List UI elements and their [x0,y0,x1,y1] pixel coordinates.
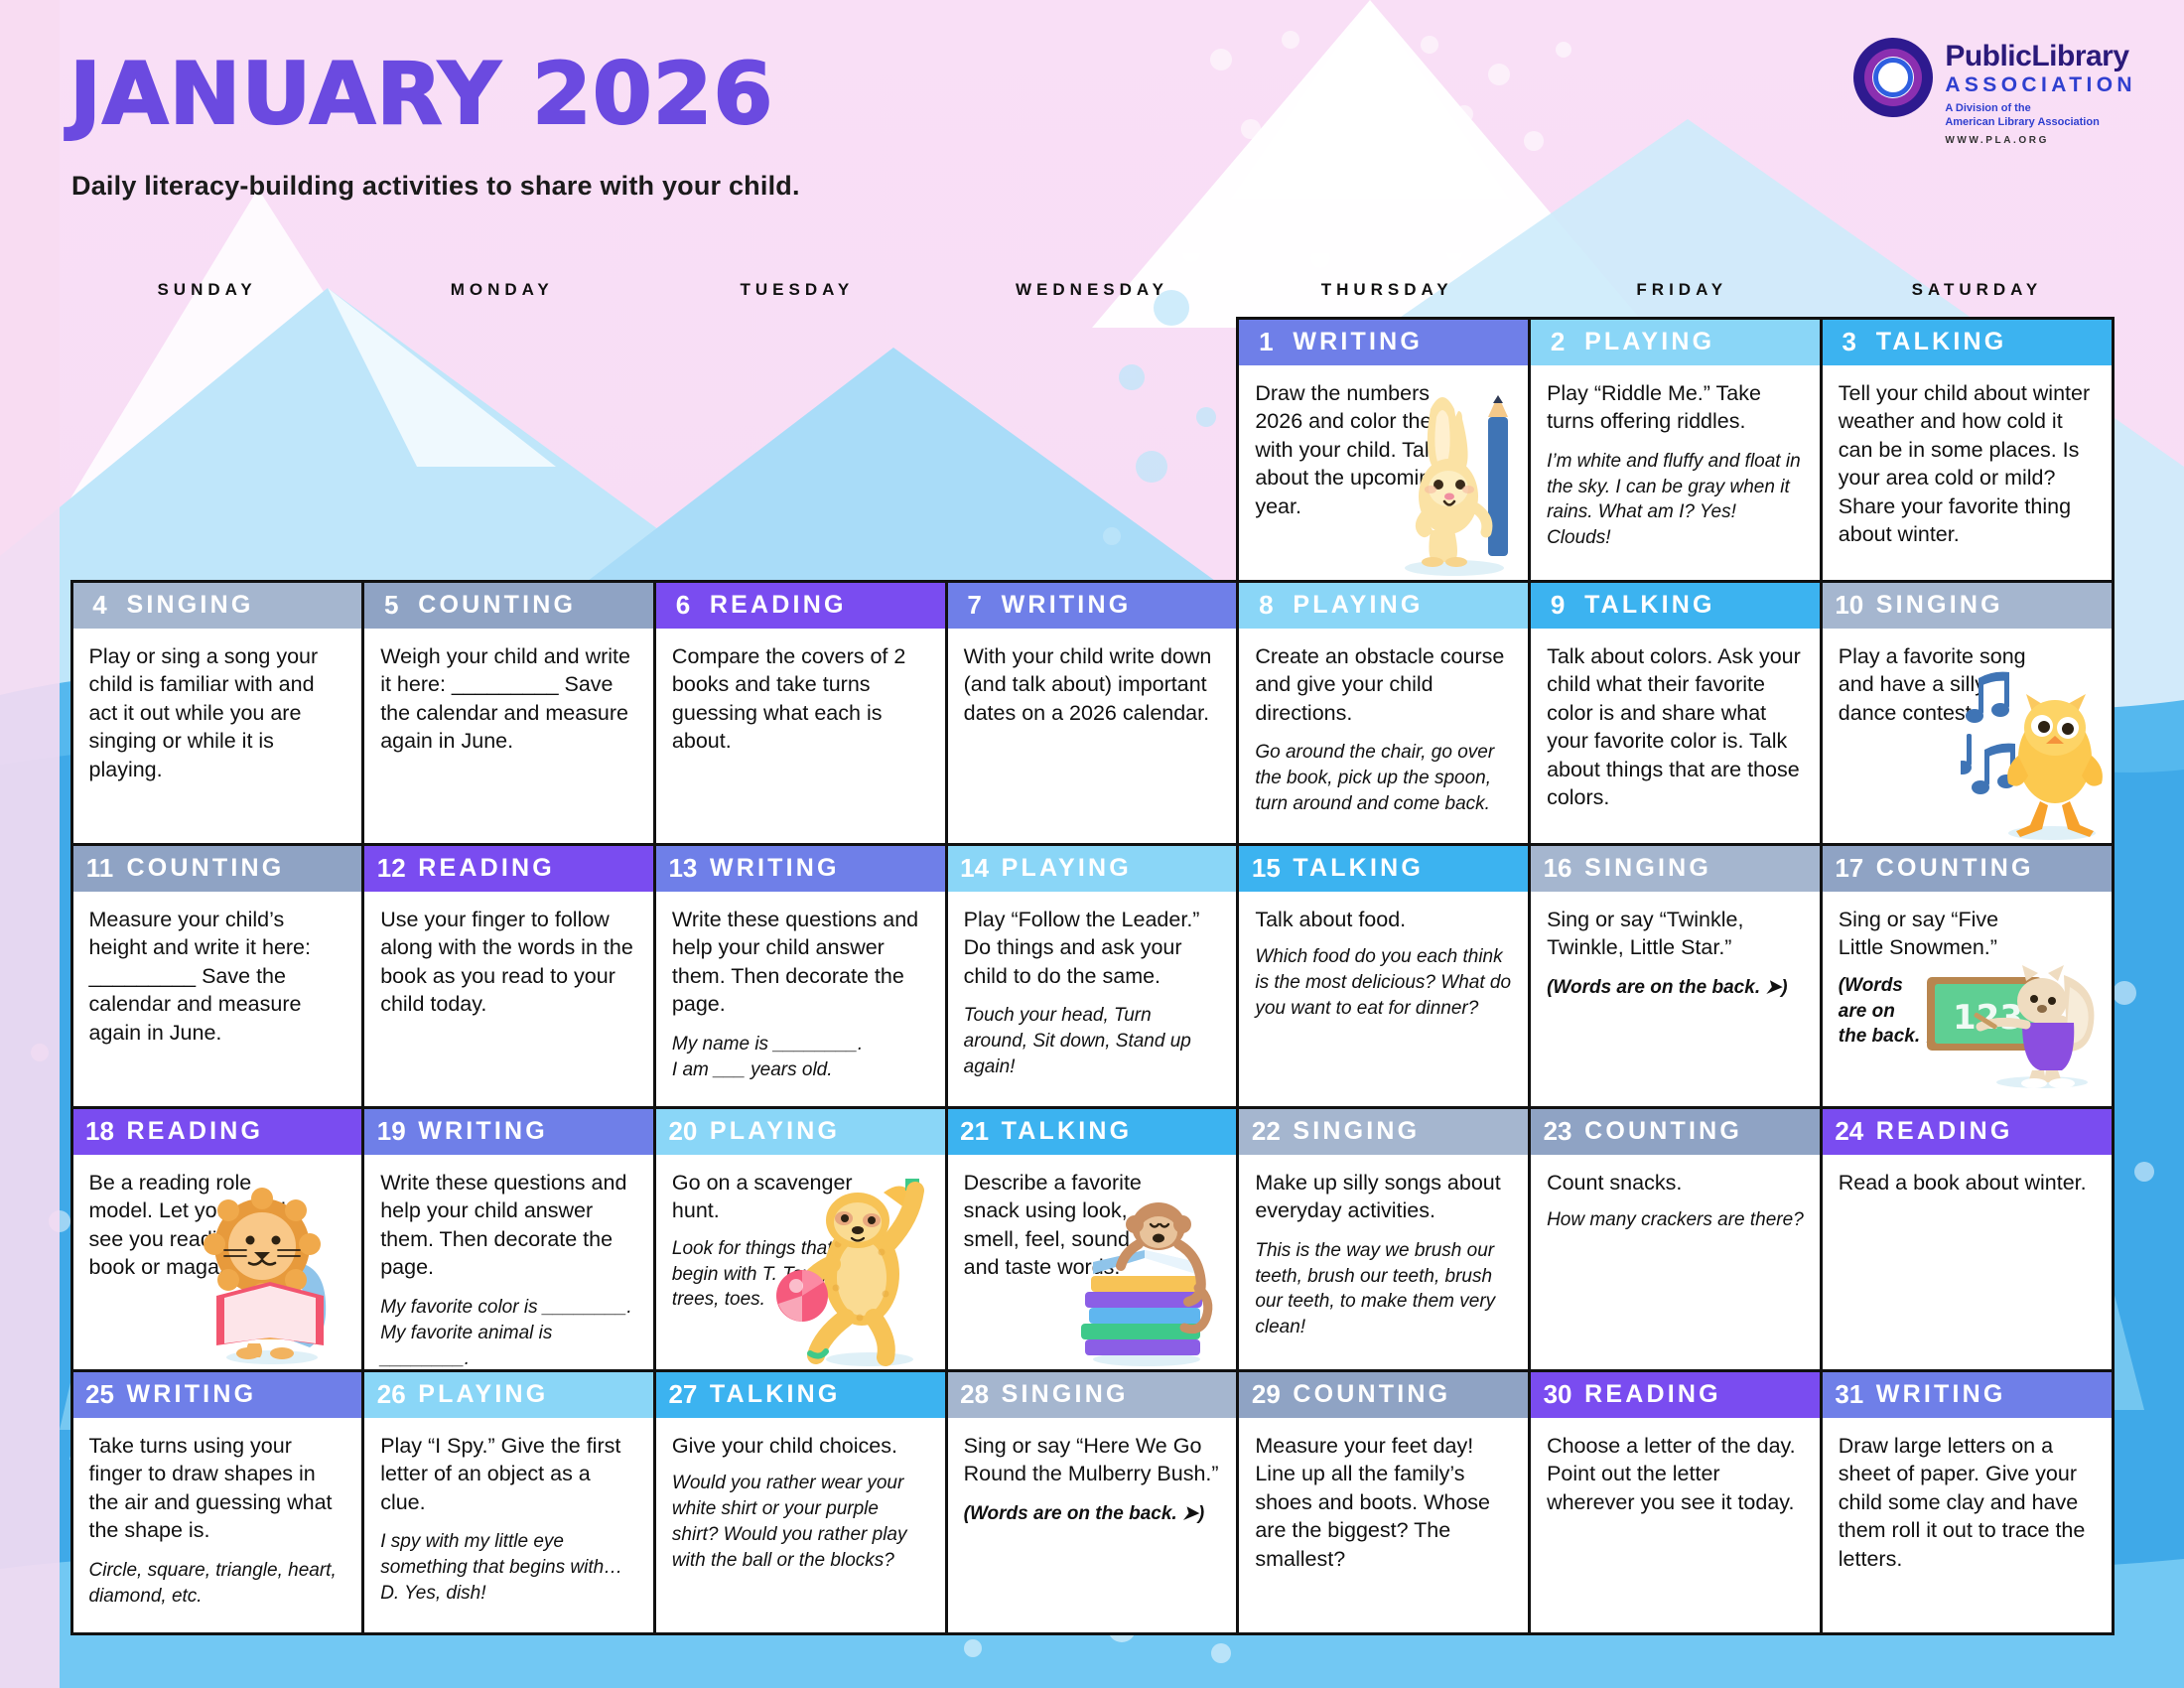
calendar-day-cell[interactable]: 17COUNTING 123 Sing or say “Five Little … [1820,843,2115,1109]
day-activity-text: Talk about food. [1255,906,1512,934]
day-example-text: I spy with my little eye something that … [380,1529,637,1606]
page-subtitle: Daily literacy-building activities to sh… [71,171,800,202]
calendar-cell-empty [653,317,948,583]
day-number: 18 [73,1116,127,1147]
day-activity-text: Sing or say “Twinkle, Twinkle, Little St… [1547,906,1804,962]
day-activity-text: Draw large letters on a sheet of paper. … [1839,1432,2096,1574]
day-example-text: I’m white and fluffy and float in the sk… [1547,449,1804,551]
day-category-label: SINGING [1002,1380,1129,1409]
day-body: Use your finger to follow along with the… [364,892,653,1106]
pla-logo: PublicLibrary ASSOCIATION A Division of … [1853,38,2136,146]
weekday-friday: FRIDAY [1535,280,1830,310]
day-body: Play “I Spy.” Give the first letter of a… [364,1418,653,1632]
day-example-text: Look for things that begin with T. Toys,… [672,1236,876,1313]
day-header: 6READING [656,583,945,629]
day-category-label: SINGING [127,591,254,620]
day-activity-text: Tell your child about winter weather and… [1839,379,2096,550]
calendar-day-cell[interactable]: 16SINGINGSing or say “Twinkle, Twinkle, … [1528,843,1823,1109]
day-activity-text: Write these questions and help your chil… [380,1169,637,1282]
day-category-label: TALKING [1002,1117,1133,1146]
day-header: 9TALKING [1531,583,1820,629]
pla-logo-icon [1853,38,1933,117]
day-example-text: Circle, square, triangle, heart, diamond… [89,1558,346,1610]
day-body: Compare the covers of 2 books and take t… [656,629,945,843]
day-number: 6 [656,590,710,621]
day-header: 14PLAYING [948,846,1237,892]
day-header: 26PLAYING [364,1372,653,1418]
calendar-day-cell[interactable]: 22SINGINGMake up silly songs about every… [1236,1106,1531,1372]
day-body: Count snacks.How many crackers are there… [1531,1155,1820,1369]
day-number: 31 [1823,1379,1876,1410]
calendar-grid: 1WRITING Draw the numbers 2026 and color… [71,318,2113,1633]
page-header: JANUARY 2026 Daily literacy-building act… [0,0,2184,268]
day-number: 21 [948,1116,1002,1147]
day-header: 31WRITING [1823,1372,2112,1418]
day-body: Draw large letters on a sheet of paper. … [1823,1418,2112,1632]
day-body: Play “Follow the Leader.” Do things and … [948,892,1237,1106]
day-activity-text: Compare the covers of 2 books and take t… [672,642,929,756]
day-category-label: WRITING [127,1380,257,1409]
logo-url: WWW.PLA.ORG [1945,135,2136,146]
calendar-day-cell[interactable]: 24READINGRead a book about winter. [1820,1106,2115,1372]
calendar-cell-empty [361,317,656,583]
day-example-text: (Words are on the back. ➤) [1547,975,1804,1001]
calendar-day-cell[interactable]: 4SINGINGPlay or sing a song your child i… [70,580,365,846]
day-body: Talk about food.Which food do you each t… [1239,892,1528,1106]
day-category-label: TALKING [710,1380,841,1409]
day-header: 16SINGING [1531,846,1820,892]
calendar-day-cell[interactable]: 6READINGCompare the covers of 2 books an… [653,580,948,846]
day-number: 28 [948,1379,1002,1410]
day-example-text: (Words are on the back. ➤) [964,1501,1221,1527]
day-category-label: COUNTING [1876,854,2034,883]
day-number: 16 [1531,853,1584,884]
day-header: 18READING [73,1109,362,1155]
calendar-day-cell[interactable]: 1WRITING Draw the numbers 2026 and color… [1236,317,1531,583]
day-category-label: PLAYING [710,1117,840,1146]
day-activity-text: Count snacks. [1547,1169,1804,1197]
day-body: Create an obstacle course and give your … [1239,629,1528,843]
day-category-label: TALKING [1876,328,2007,356]
day-activity-text: Play “I Spy.” Give the first letter of a… [380,1432,637,1517]
day-body: Play or sing a song your child is famili… [73,629,362,843]
day-activity-text: Play a favorite song and have a silly da… [1839,642,2042,728]
day-header: 5COUNTING [364,583,653,629]
day-activity-text: Write these questions and help your chil… [672,906,929,1019]
day-category-label: COUNTING [1584,1117,1742,1146]
calendar-day-cell[interactable]: 9TALKINGTalk about colors. Ask your chil… [1528,580,1823,846]
day-body: Write these questions and help your chil… [364,1155,653,1372]
day-example-text: Touch your head, Turn around, Sit down, … [964,1003,1221,1079]
day-header: 28SINGING [948,1372,1237,1418]
day-activity-text: Play or sing a song your child is famili… [89,642,346,784]
calendar-cell-empty [70,317,365,583]
calendar-day-cell[interactable]: 26PLAYINGPlay “I Spy.” Give the first le… [361,1369,656,1635]
calendar-day-cell[interactable]: 5COUNTINGWeigh your child and write it h… [361,580,656,846]
day-number: 3 [1823,327,1876,357]
day-body: Weigh your child and write it here: ____… [364,629,653,843]
day-example-text: Would you rather wear your white shirt o… [672,1471,929,1573]
day-activity-text: Give your child choices. [672,1432,929,1461]
day-activity-text: Create an obstacle course and give your … [1255,642,1512,728]
day-body: Choose a letter of the day. Point out th… [1531,1418,1820,1632]
calendar-day-cell[interactable]: 27TALKINGGive your child choices.Would y… [653,1369,948,1635]
day-example-text: This is the way we brush our teeth, brus… [1255,1238,1512,1340]
day-example-text: Which food do you each think is the most… [1255,944,1512,1021]
calendar-day-cell[interactable]: 28SINGINGSing or say “Here We Go Round t… [945,1369,1240,1635]
day-body: Be a reading role model. Let your child … [73,1155,362,1369]
day-activity-text: With your child write down (and talk abo… [964,642,1221,728]
day-header: 24READING [1823,1109,2112,1155]
day-example-text: (Words are on the back. ➤) [1839,973,2042,1050]
day-number: 29 [1239,1379,1293,1410]
day-number: 25 [73,1379,127,1410]
day-body: Go on a scavenger hunt.Look for things t… [656,1155,945,1369]
day-header: 21TALKING [948,1109,1237,1155]
day-activity-text: Make up silly songs about everyday activ… [1255,1169,1512,1225]
calendar-day-cell[interactable]: 10SINGING Play a favorite song and have … [1820,580,2115,846]
calendar-day-cell[interactable]: 11COUNTINGMeasure your child’s height an… [70,843,365,1109]
logo-name-bold: Public [1945,40,2031,72]
weekday-thursday: THURSDAY [1240,280,1535,310]
day-header: 19WRITING [364,1109,653,1155]
day-header: 3TALKING [1823,320,2112,365]
calendar-day-cell[interactable]: 2PLAYINGPlay “Riddle Me.” Take turns off… [1528,317,1823,583]
day-example-text: My name is ________. I am ___ years old. [672,1032,929,1083]
calendar-day-cell[interactable]: 15TALKINGTalk about food.Which food do y… [1236,843,1531,1109]
day-header: 10SINGING [1823,583,2112,629]
day-body: With your child write down (and talk abo… [948,629,1237,843]
day-header: 25WRITING [73,1372,362,1418]
day-number: 14 [948,853,1002,884]
day-number: 23 [1531,1116,1584,1147]
day-example-text: My favorite color is ________. My favori… [380,1295,637,1371]
day-body: Describe a favorite snack using look, sm… [948,1155,1237,1369]
day-body: Talk about colors. Ask your child what t… [1531,629,1820,843]
day-category-label: TALKING [1293,854,1424,883]
day-body: Sing or say “Here We Go Round the Mulber… [948,1418,1237,1632]
weekday-tuesday: TUESDAY [649,280,944,310]
day-example-text: How many crackers are there? [1547,1207,1804,1233]
day-header: 22SINGING [1239,1109,1528,1155]
calendar-day-cell[interactable]: 12READINGUse your finger to follow along… [361,843,656,1109]
day-category-label: SINGING [1876,591,2003,620]
day-activity-text: Go on a scavenger hunt. [672,1169,876,1225]
day-number: 20 [656,1116,710,1147]
day-header: 4SINGING [73,583,362,629]
day-number: 9 [1531,590,1584,621]
day-activity-text: Sing or say “Here We Go Round the Mulber… [964,1432,1221,1488]
day-category-label: COUNTING [418,591,576,620]
day-category-label: SINGING [1293,1117,1420,1146]
day-example-text: Go around the chair, go over the book, p… [1255,740,1512,816]
day-category-label: PLAYING [1002,854,1132,883]
page-title: JANUARY 2026 [69,45,773,144]
day-body: Sing or say “Twinkle, Twinkle, Little St… [1531,892,1820,1106]
day-category-label: COUNTING [127,854,285,883]
day-header: 17COUNTING [1823,846,2112,892]
day-header: 15TALKING [1239,846,1528,892]
day-number: 2 [1531,327,1584,357]
day-category-label: READING [127,1117,264,1146]
calendar-day-cell[interactable]: 30READINGChoose a letter of the day. Poi… [1528,1369,1823,1635]
day-category-label: WRITING [1293,328,1423,356]
day-category-label: READING [710,591,847,620]
day-activity-text: Describe a favorite snack using look, sm… [964,1169,1167,1282]
calendar-day-cell[interactable]: 13WRITINGWrite these questions and help … [653,843,948,1109]
day-body: Write these questions and help your chil… [656,892,945,1106]
day-header: 20PLAYING [656,1109,945,1155]
calendar-day-cell[interactable]: 25WRITINGTake turns using your finger to… [70,1369,365,1635]
calendar-day-cell[interactable]: 20PLAYING Go on a scavenger hunt.Look fo… [653,1106,948,1372]
day-category-label: READING [1876,1117,2013,1146]
day-header: 2PLAYING [1531,320,1820,365]
day-category-label: TALKING [1584,591,1715,620]
day-number: 1 [1239,327,1293,357]
day-category-label: WRITING [710,854,840,883]
day-body: Measure your feet day! Line up all the f… [1239,1418,1528,1632]
weekday-header-row: SUNDAY MONDAY TUESDAY WEDNESDAY THURSDAY… [60,280,2124,310]
day-category-label: PLAYING [1584,328,1714,356]
day-category-label: SINGING [1584,854,1711,883]
calendar-day-cell[interactable]: 21TALKING Describe a favorite snack usin… [945,1106,1240,1372]
day-body: Give your child choices.Would you rather… [656,1418,945,1632]
day-header: 7WRITING [948,583,1237,629]
day-number: 10 [1823,590,1876,621]
day-number: 26 [364,1379,418,1410]
weekday-sunday: SUNDAY [60,280,354,310]
day-category-label: WRITING [1002,591,1132,620]
calendar-day-cell[interactable]: 31WRITINGDraw large letters on a sheet o… [1820,1369,2115,1635]
day-activity-text: Play “Follow the Leader.” Do things and … [964,906,1221,991]
day-number: 27 [656,1379,710,1410]
calendar-day-cell[interactable]: 7WRITINGWith your child write down (and … [945,580,1240,846]
day-number: 17 [1823,853,1876,884]
day-header: 29COUNTING [1239,1372,1528,1418]
day-body: Tell your child about winter weather and… [1823,365,2112,580]
day-number: 11 [73,853,127,884]
day-activity-text: Read a book about winter. [1839,1169,2096,1197]
day-number: 24 [1823,1116,1876,1147]
day-header: 23COUNTING [1531,1109,1820,1155]
day-number: 30 [1531,1379,1584,1410]
day-category-label: READING [1584,1380,1721,1409]
day-number: 4 [73,590,127,621]
logo-division: A Division of the American Library Assoc… [1945,102,2136,130]
calendar-day-cell[interactable]: 14PLAYINGPlay “Follow the Leader.” Do th… [945,843,1240,1109]
day-activity-text: Take turns using your finger to draw sha… [89,1432,346,1545]
weekday-saturday: SATURDAY [1830,280,2124,310]
day-number: 13 [656,853,710,884]
day-activity-text: Measure your child’s height and write it… [89,906,346,1048]
calendar-day-cell[interactable]: 18READING Be a reading role model. Let y… [70,1106,365,1372]
day-category-label: PLAYING [418,1380,548,1409]
logo-association: ASSOCIATION [1945,72,2136,97]
day-body: Read a book about winter. [1823,1155,2112,1369]
calendar-day-cell[interactable]: 29COUNTINGMeasure your feet day! Line up… [1236,1369,1531,1635]
calendar-day-cell[interactable]: 8PLAYINGCreate an obstacle course and gi… [1236,580,1531,846]
day-category-label: WRITING [418,1117,548,1146]
day-header: 8PLAYING [1239,583,1528,629]
day-body: Draw the numbers 2026 and color them wit… [1239,365,1528,580]
day-number: 12 [364,853,418,884]
day-header: 12READING [364,846,653,892]
logo-name-light: Library [2031,40,2128,72]
weekday-monday: MONDAY [354,280,649,310]
day-activity-text: Be a reading role model. Let your child … [89,1169,293,1282]
calendar-day-cell[interactable]: 3TALKINGTell your child about winter wea… [1820,317,2115,583]
day-body: 123 Sing or say “Five Little Snowmen.”(W… [1823,892,2112,1106]
day-activity-text: Measure your feet day! Line up all the f… [1255,1432,1512,1574]
day-body: Measure your child’s height and write it… [73,892,362,1106]
calendar-day-cell[interactable]: 23COUNTINGCount snacks.How many crackers… [1528,1106,1823,1372]
weekday-wednesday: WEDNESDAY [944,280,1239,310]
day-category-label: WRITING [1876,1380,2006,1409]
calendar-day-cell[interactable]: 19WRITINGWrite these questions and help … [361,1106,656,1372]
day-header: 11COUNTING [73,846,362,892]
day-category-label: READING [418,854,555,883]
day-activity-text: Sing or say “Five Little Snowmen.” [1839,906,2042,962]
day-number: 7 [948,590,1002,621]
day-header: 1WRITING [1239,320,1528,365]
day-number: 5 [364,590,418,621]
day-number: 19 [364,1116,418,1147]
day-body: Make up silly songs about everyday activ… [1239,1155,1528,1369]
day-number: 22 [1239,1116,1293,1147]
day-category-label: COUNTING [1293,1380,1450,1409]
day-header: 13WRITING [656,846,945,892]
calendar-cell-empty [945,317,1240,583]
day-activity-text: Choose a letter of the day. Point out th… [1547,1432,1804,1517]
day-activity-text: Play “Riddle Me.” Take turns offering ri… [1547,379,1804,436]
day-number: 15 [1239,853,1293,884]
day-activity-text: Draw the numbers 2026 and color them wit… [1255,379,1458,521]
day-body: Take turns using your finger to draw sha… [73,1418,362,1632]
day-number: 8 [1239,590,1293,621]
day-activity-text: Use your finger to follow along with the… [380,906,637,1019]
day-header: 27TALKING [656,1372,945,1418]
day-category-label: PLAYING [1293,591,1423,620]
day-activity-text: Weigh your child and write it here: ____… [380,642,637,756]
day-header: 30READING [1531,1372,1820,1418]
day-body: Play “Riddle Me.” Take turns offering ri… [1531,365,1820,580]
day-activity-text: Talk about colors. Ask your child what t… [1547,642,1804,813]
day-body: Play a favorite song and have a silly da… [1823,629,2112,843]
